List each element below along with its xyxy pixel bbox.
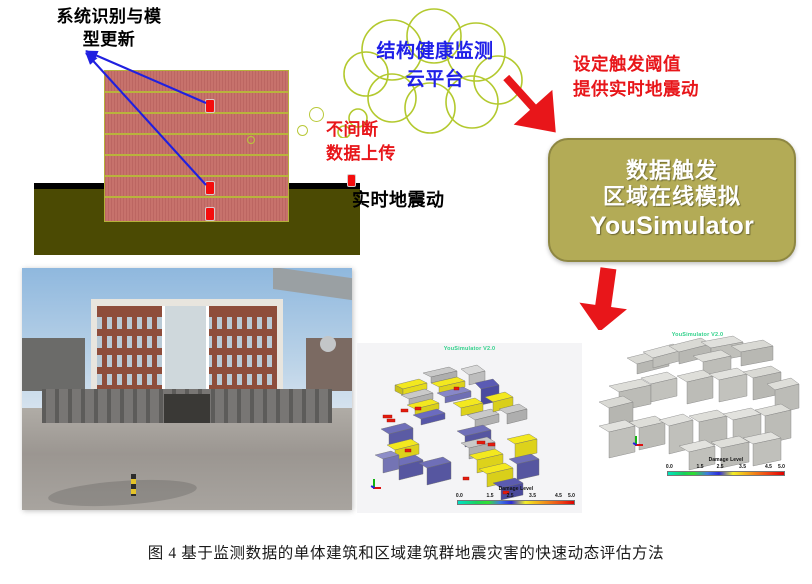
geometry-legend-colorbar	[667, 471, 785, 476]
damage-legend-colorbar	[457, 500, 575, 505]
building-photo	[22, 268, 352, 510]
simulator-product-name: YouSimulator	[590, 211, 754, 242]
damage-legend-title: Damage Level	[457, 486, 575, 492]
axis-gizmo-icon	[633, 436, 645, 448]
legend-tick: 2.5	[507, 493, 514, 499]
building-diagram	[20, 55, 360, 255]
arrow-cloud-to-simulator	[495, 62, 605, 150]
photo-building-center-bay	[162, 306, 209, 396]
photo-bollard	[131, 474, 136, 496]
legend-tick: 5.0	[568, 493, 575, 499]
figure-canvas: 系统识别与模 型更新	[0, 0, 812, 584]
yousimulator-box[interactable]: 数据触发 区域在线模拟 YouSimulator	[548, 138, 796, 262]
realtime-ground-motion-label: 实时地震动	[352, 186, 445, 212]
geometry-legend-title: Damage Level	[667, 457, 785, 463]
continuous-upload-label: 不间断 数据上传	[326, 118, 436, 166]
system-identification-label: 系统识别与模 型更新	[24, 6, 194, 52]
axis-gizmo-icon	[371, 479, 383, 491]
damage-simulation-panel[interactable]: YouSimulator V2.0	[357, 343, 582, 513]
system-identification-line2: 型更新	[24, 29, 194, 52]
legend-tick: 3.5	[739, 464, 746, 470]
legend-tick: 4.5	[765, 464, 772, 470]
simulator-line2: 区域在线模拟	[603, 184, 741, 211]
photo-left-building	[22, 338, 85, 391]
geometry-simulation-panel[interactable]: YouSimulator V2.0	[585, 330, 810, 490]
legend-tick: 5.0	[778, 464, 785, 470]
legend-tick: 0.0	[666, 464, 673, 470]
bubble-icon	[309, 107, 324, 122]
legend-tick: 3.5	[529, 493, 536, 499]
photo-entrance	[164, 394, 210, 423]
photo-main-building	[91, 299, 282, 396]
upload-line1: 不间断	[326, 118, 436, 142]
system-identification-line1: 系统识别与模	[24, 6, 194, 29]
bubble-icon	[297, 125, 308, 136]
legend-tick: 1.5	[487, 493, 494, 499]
arrow-simulator-to-results	[578, 266, 638, 334]
geometry-legend: Damage Level 0.0 1.5 2.5 3.5 4.5 5.0	[667, 457, 785, 476]
simulator-line1: 数据触发	[626, 158, 718, 185]
legend-tick: 2.5	[717, 464, 724, 470]
photo-dome	[320, 336, 336, 352]
legend-tick: 1.5	[697, 464, 704, 470]
threshold-line2: 提供实时地震动	[573, 77, 788, 102]
geometry-legend-ticks: 0.0 1.5 2.5 3.5 4.5 5.0	[667, 464, 785, 471]
upload-line2: 数据上传	[326, 142, 436, 166]
damage-legend: Damage Level 0.0 1.5 2.5 3.5 4.5 5.0	[457, 486, 575, 505]
legend-tick: 4.5	[555, 493, 562, 499]
threshold-line1: 设定触发阈值	[573, 52, 788, 77]
trigger-threshold-label: 设定触发阈值 提供实时地震动	[573, 52, 788, 101]
legend-tick: 0.0	[456, 493, 463, 499]
figure-caption: 图 4 基于监测数据的单体建筑和区域建筑群地震灾害的快速动态评估方法	[0, 541, 812, 563]
system-identification-arrows	[20, 55, 360, 255]
damage-legend-ticks: 0.0 1.5 2.5 3.5 4.5 5.0	[457, 493, 575, 500]
